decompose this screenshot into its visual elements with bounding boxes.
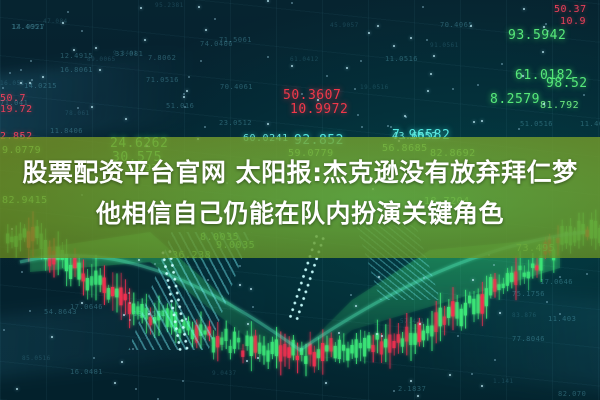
background-speck [393, 390, 395, 392]
background-speck [186, 90, 188, 92]
background-speck [42, 76, 44, 78]
background-speck [2, 87, 4, 89]
background-speck [77, 107, 79, 109]
background-speck [135, 388, 137, 390]
background-speck [542, 51, 544, 53]
background-speck [29, 310, 31, 312]
background-speck [291, 65, 293, 67]
background-speck [257, 357, 259, 359]
headline-line-2: 他相信自己仍能在队内扮演关键角色 [0, 193, 600, 234]
background-speck [422, 6, 424, 8]
background-speck [128, 292, 130, 294]
background-speck [91, 106, 93, 108]
background-speck [29, 82, 31, 84]
background-speck [494, 359, 496, 361]
background-speck [252, 306, 254, 308]
background-speck [184, 106, 186, 108]
background-speck [583, 94, 585, 96]
background-speck [21, 271, 23, 273]
background-speck [546, 301, 548, 303]
background-speck [423, 277, 425, 279]
background-speck [449, 374, 451, 376]
background-speck [81, 302, 83, 304]
background-speck [481, 385, 483, 387]
background-speck [543, 26, 545, 28]
background-speck [433, 55, 435, 57]
background-speck [350, 294, 352, 296]
background-speck [518, 128, 520, 130]
background-speck [404, 115, 406, 117]
background-speck [452, 88, 454, 90]
background-speck [9, 72, 11, 74]
background-speck [246, 360, 248, 362]
background-speck [522, 75, 524, 77]
background-speck [559, 276, 561, 278]
background-speck [354, 88, 356, 90]
background-speck [417, 395, 419, 397]
background-speck [250, 288, 252, 290]
background-speck [182, 380, 184, 382]
background-speck [457, 335, 459, 337]
background-speck [326, 75, 328, 77]
background-speck [62, 22, 64, 24]
background-speck [543, 103, 545, 105]
background-speck [499, 312, 501, 314]
headline: 股票配资平台官网 太阳报:杰克逊没有放弃拜仁梦 他相信自己仍能在队内扮演关键角色 [0, 152, 600, 234]
background-speck [523, 8, 525, 10]
background-speck [239, 265, 241, 267]
background-speck [207, 279, 209, 281]
background-speck [427, 90, 429, 92]
background-speck [20, 82, 22, 84]
background-speck [430, 73, 432, 75]
background-speck [51, 336, 53, 338]
background-speck [138, 259, 140, 261]
background-speck [473, 121, 475, 123]
background-speck [95, 47, 97, 49]
background-speck [144, 39, 146, 41]
background-speck [204, 126, 206, 128]
background-speck [361, 126, 363, 128]
background-speck [338, 332, 340, 334]
background-speck [368, 32, 370, 34]
background-speck [214, 18, 216, 20]
background-speck [471, 373, 473, 375]
background-speck [121, 361, 123, 363]
background-speck [154, 263, 156, 265]
background-speck [81, 30, 83, 32]
background-speck [387, 125, 389, 127]
background-speck [30, 60, 32, 62]
background-speck [188, 76, 190, 78]
background-speck [132, 348, 134, 350]
background-speck [73, 49, 75, 51]
background-speck [183, 93, 185, 95]
background-speck [16, 388, 18, 390]
background-speck [377, 25, 379, 27]
background-speck [185, 318, 187, 320]
background-speck [267, 56, 269, 58]
background-speck [376, 333, 378, 335]
stock-banner-image: 93.594261.018298.528.257981.79250.360710… [0, 0, 600, 400]
background-speck [125, 118, 127, 120]
background-speck [317, 99, 319, 101]
background-speck [301, 93, 303, 95]
background-speck [31, 79, 33, 81]
background-speck [198, 6, 200, 8]
background-speck [325, 382, 327, 384]
background-speck [267, 123, 269, 125]
background-speck [205, 29, 207, 31]
background-speck [129, 302, 131, 304]
background-speck [426, 39, 428, 41]
background-speck [545, 23, 547, 25]
background-speck [410, 380, 412, 382]
background-speck [183, 96, 185, 98]
background-speck [378, 276, 380, 278]
background-speck [547, 30, 549, 32]
background-speck [148, 313, 150, 315]
background-speck [481, 120, 483, 122]
background-speck [140, 7, 142, 9]
headline-line-1: 股票配资平台官网 太阳报:杰克逊没有放弃拜仁梦 [0, 152, 600, 193]
background-speck [493, 264, 495, 266]
background-speck [559, 313, 561, 315]
background-speck [3, 329, 5, 331]
background-speck [346, 67, 348, 69]
background-speck [390, 126, 392, 128]
background-speck [20, 69, 22, 71]
background-speck [93, 357, 95, 359]
background-speck [360, 60, 362, 62]
background-speck [355, 305, 357, 307]
background-speck [200, 60, 202, 62]
background-speck [129, 319, 131, 321]
background-speck [470, 25, 472, 27]
background-speck [501, 63, 503, 65]
background-speck [291, 2, 293, 4]
background-speck [472, 279, 474, 281]
background-speck [419, 323, 421, 325]
background-speck [586, 273, 588, 275]
background-speck [267, 0, 269, 2]
background-speck [239, 284, 241, 286]
background-speck [410, 37, 412, 39]
background-speck [99, 69, 101, 71]
background-speck [393, 45, 395, 47]
background-speck [67, 11, 69, 13]
background-speck [477, 84, 479, 86]
background-speck [114, 382, 116, 384]
background-speck [123, 314, 125, 316]
background-speck [357, 114, 359, 116]
background-speck [247, 323, 249, 325]
background-speck [381, 335, 383, 337]
